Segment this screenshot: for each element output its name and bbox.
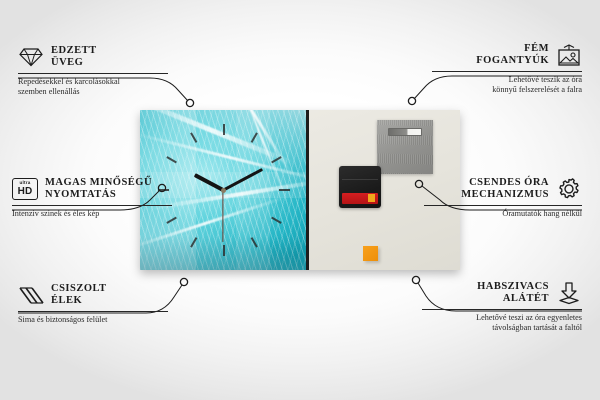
feature-title-line2: ALÁTÉT bbox=[503, 293, 549, 304]
feature-polished-edges[interactable]: CSISZOLT ÉLEK Sima és biztonságos felüle… bbox=[18, 282, 168, 325]
feature-foam-pad[interactable]: HABSZIVACS ALÁTÉT Lehetővé teszi az óra … bbox=[422, 280, 582, 333]
feature-title-line2: ÜVEG bbox=[51, 57, 83, 68]
feature-silent-clock-mechanism[interactable]: CSENDES ÓRA MECHANIZMUS Óramutatók hang … bbox=[424, 176, 582, 219]
feature-title: CSENDES ÓRA MECHANIZMUS bbox=[461, 177, 549, 202]
feature-metal-handles[interactable]: FÉM FOGANTYÚK Lehetővé teszik az óra kön… bbox=[432, 42, 582, 95]
feature-title: FÉM FOGANTYÚK bbox=[476, 43, 549, 68]
feature-header: HABSZIVACS ALÁTÉT bbox=[422, 280, 582, 306]
feature-title-line1: FÉM bbox=[524, 43, 549, 54]
feature-title: MAGAS MINŐSÉGŰ NYOMTATÁS bbox=[45, 177, 152, 202]
arrow-onto-pad-icon bbox=[556, 280, 582, 306]
feature-desc-line1: Sima és biztonságos felület bbox=[18, 315, 107, 324]
feature-desc-line2: szemben ellenállás bbox=[18, 87, 80, 96]
feature-divider bbox=[432, 71, 582, 72]
feature-title-line1: MAGAS MINŐSÉGŰ bbox=[45, 177, 152, 188]
feature-divider bbox=[422, 309, 582, 310]
feature-desc-line2: könnyű felszerelését a falra bbox=[492, 85, 582, 94]
feature-header: ultra HD MAGAS MINŐSÉGŰ NYOMTATÁS bbox=[12, 176, 172, 202]
feature-header: CSISZOLT ÉLEK bbox=[18, 282, 168, 308]
feature-title-line2: NYOMTATÁS bbox=[45, 189, 116, 200]
feature-divider bbox=[424, 205, 582, 206]
feature-description: Lehetővé teszik az óra könnyű felszerelé… bbox=[432, 75, 582, 95]
feature-print-quality[interactable]: ultra HD MAGAS MINŐSÉGŰ NYOMTATÁS Intenz… bbox=[12, 176, 172, 219]
feature-title-line1: CSISZOLT bbox=[51, 283, 107, 294]
feature-title: CSISZOLT ÉLEK bbox=[51, 283, 107, 308]
feature-desc-line1: Lehetővé teszi az óra egyenletes bbox=[476, 313, 582, 322]
picture-hanger-icon bbox=[556, 42, 582, 68]
feature-title-line2: FOGANTYÚK bbox=[476, 55, 549, 66]
feature-header: CSENDES ÓRA MECHANIZMUS bbox=[424, 176, 582, 202]
feature-header: FÉM FOGANTYÚK bbox=[432, 42, 582, 68]
feature-title-line2: MECHANIZMUS bbox=[461, 189, 549, 200]
feature-description: Sima és biztonságos felület bbox=[18, 315, 168, 325]
feature-title-line1: HABSZIVACS bbox=[477, 281, 549, 292]
diamond-icon bbox=[18, 44, 44, 70]
diagonal-lines-icon bbox=[18, 282, 44, 308]
feature-title: EDZETT ÜVEG bbox=[51, 45, 97, 70]
hd-badge-main-label: HD bbox=[18, 187, 33, 197]
feature-tempered-glass[interactable]: EDZETT ÜVEG Repedésekkel és karcolásokka… bbox=[18, 44, 168, 97]
feature-divider bbox=[18, 73, 168, 74]
feature-desc-line1: Óramutatók hang nélkül bbox=[502, 209, 582, 218]
feature-divider bbox=[12, 205, 172, 206]
ultra-hd-badge-icon: ultra HD bbox=[12, 176, 38, 202]
feature-desc-line1: Repedésekkel és karcolásokkal bbox=[18, 77, 120, 86]
feature-description: Intenzív színek és éles kép bbox=[12, 209, 172, 219]
infographic-canvas: EDZETT ÜVEG Repedésekkel és karcolásokka… bbox=[0, 0, 600, 400]
feature-desc-line1: Intenzív színek és éles kép bbox=[12, 209, 99, 218]
feature-title-line1: CSENDES ÓRA bbox=[469, 177, 549, 188]
feature-description: Lehetővé teszi az óra egyenletes távolsá… bbox=[422, 313, 582, 333]
feature-description: Óramutatók hang nélkül bbox=[424, 209, 582, 219]
feature-header: EDZETT ÜVEG bbox=[18, 44, 168, 70]
feature-desc-line2: távolságban tartását a faltól bbox=[492, 323, 582, 332]
gear-icon bbox=[556, 176, 582, 202]
feature-title: HABSZIVACS ALÁTÉT bbox=[477, 281, 549, 306]
feature-title-line2: ÉLEK bbox=[51, 295, 82, 306]
feature-divider bbox=[18, 311, 168, 312]
feature-title-line1: EDZETT bbox=[51, 45, 97, 56]
feature-description: Repedésekkel és karcolásokkal szemben el… bbox=[18, 77, 168, 97]
feature-desc-line1: Lehetővé teszik az óra bbox=[509, 75, 582, 84]
